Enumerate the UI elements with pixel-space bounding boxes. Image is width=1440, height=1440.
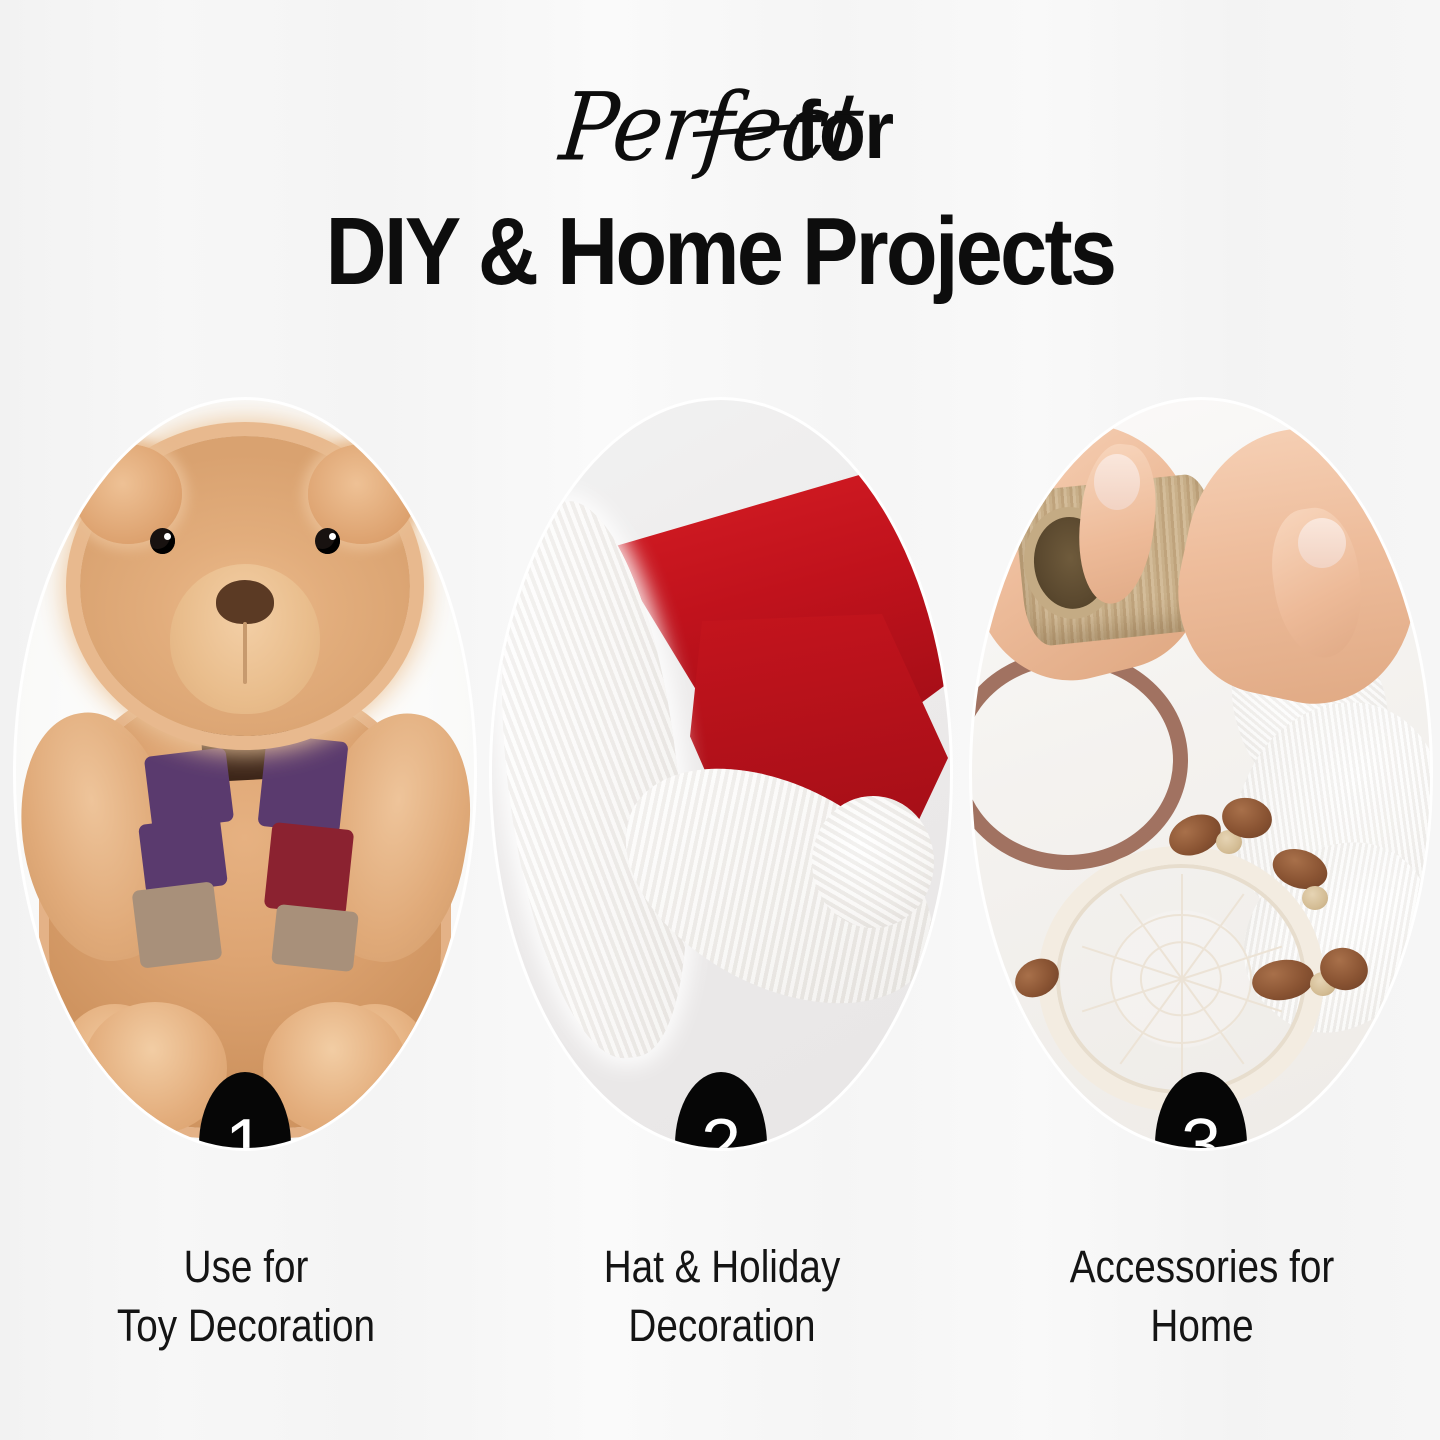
bear-body [49,688,441,1128]
step-number: 2 [701,1109,741,1148]
fur-texture [812,796,934,928]
scarf-band [138,815,228,894]
feature-card-2[interactable]: 2 Hat & Holiday Decoration [492,400,952,1400]
caption-line-1: Accessories for [1004,1238,1400,1297]
caption-line-1: Hat & Holiday [524,1238,920,1297]
bear-head [80,436,410,736]
bear-scarf [140,734,350,994]
feature-card-3[interactable]: 3 Accessories for Home [972,400,1432,1400]
photo-oval-hat-holiday-decoration: 2 [492,400,950,1148]
fingernail [1298,518,1346,568]
caption-line-1: Use for [48,1238,444,1297]
feature-card-1[interactable]: 1 Use for Toy Decoration [16,400,476,1400]
scarf-band [257,734,348,834]
fingernail [1094,454,1140,510]
bear-nose [216,580,274,624]
caption-line-2: Home [1004,1297,1400,1356]
photo-oval-toy-decoration: 1 [16,400,474,1148]
scarf-band [271,904,359,972]
infographic-canvas: Perfect for DIY & Home Projects [0,0,1440,1440]
step-number: 1 [225,1109,265,1148]
bear-eye-left [150,528,175,554]
bear-muzzle [170,564,320,714]
santa-hat-illustration [492,400,950,1148]
scarf-band [264,822,355,916]
headline-line-2: DIY & Home Projects [86,204,1353,300]
card-caption-3: Accessories for Home [1004,1238,1400,1355]
dreamcatcher-craft-illustration [972,400,1430,1148]
wooden-hoop [972,650,1188,870]
headline-line-1: Perfect for [0,78,1440,198]
bear-eye-right [315,528,340,554]
step-number: 3 [1181,1109,1221,1148]
caption-line-2: Toy Decoration [48,1297,444,1356]
teddy-bear-illustration [16,400,474,1148]
headline-bold-word: for [795,90,892,172]
page-title: Perfect for DIY & Home Projects [0,78,1440,300]
caption-line-2: Decoration [524,1297,920,1356]
photo-oval-accessories-for-home: 3 [972,400,1430,1148]
card-caption-1: Use for Toy Decoration [48,1238,444,1355]
scarf-band [132,881,223,968]
bear-mouth [243,622,247,684]
wooden-bead-small [1302,886,1328,910]
santa-hat-pompom [812,796,934,928]
card-caption-2: Hat & Holiday Decoration [524,1238,920,1355]
feature-card-list: 1 Use for Toy Decoration [0,400,1440,1400]
